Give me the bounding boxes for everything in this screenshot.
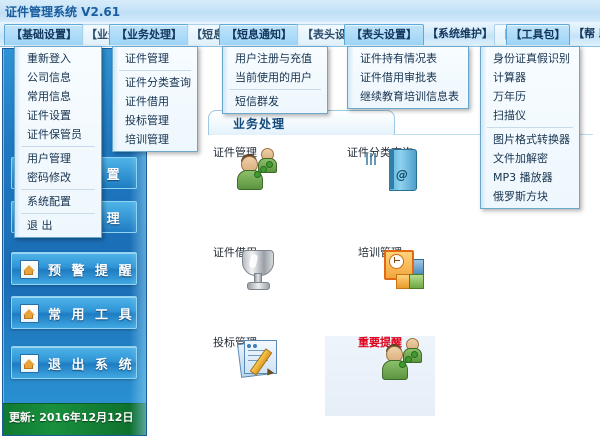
menu-separator: [229, 89, 321, 90]
menu-item-business[interactable]: 【业务处理】: [109, 24, 189, 45]
app-icon-certificate-borrow[interactable]: 证件借用: [180, 246, 290, 326]
menu-option-common-info[interactable]: 常用信息: [15, 87, 101, 106]
sidebar-button-exit-system[interactable]: 退 出 系 统: [11, 346, 137, 379]
house-icon: [20, 304, 39, 323]
app-title: 证件管理系统 V2.61: [5, 3, 120, 20]
sidebar-button-exit-system-label: 退 出 系 统: [48, 354, 135, 373]
menu-item-tools[interactable]: 【工具包】: [506, 24, 570, 45]
menu-option-file-encryption[interactable]: 文件加解密: [481, 149, 579, 168]
menu-option-user-register-recharge[interactable]: 用户注册与充值: [223, 49, 327, 68]
menu-item-help[interactable]: 【帮 助】: [566, 25, 600, 43]
menu-option-tetris[interactable]: 俄罗斯方块: [481, 187, 579, 206]
menu-option-certificate-borrow[interactable]: 证件借用: [113, 92, 197, 111]
menu-option-company-info[interactable]: 公司信息: [15, 68, 101, 87]
menu-option-cert-holding-table[interactable]: 证件持有情况表: [348, 49, 468, 68]
menu-option-continuing-education-table[interactable]: 继续教育培训信息表: [348, 87, 468, 106]
menu-option-cert-settings[interactable]: 证件设置: [15, 106, 101, 125]
menu-option-id-card-verification[interactable]: 身份证真假识别: [481, 49, 579, 68]
menu-separator: [487, 127, 573, 128]
app-icon-bid-management[interactable]: 投标管理: [180, 336, 290, 416]
panel-title: 业务处理: [233, 115, 285, 132]
menu-option-password-change[interactable]: 密码修改: [15, 168, 101, 187]
app-icon-certificate-management[interactable]: 证件管理: [180, 146, 290, 226]
house-icon: [20, 354, 39, 373]
menu-option-exit[interactable]: 退 出: [15, 216, 101, 235]
dropdown-tools: 身份证真假识别 计算器 万年历 扫描仪 图片格式转换器 文件加解密 MP3 播放…: [480, 46, 580, 209]
dropdown-sms: 用户注册与充值 当前使用的用户 短信群发: [222, 46, 328, 114]
menu-option-certificate-category-query[interactable]: 证件分类查询: [113, 73, 197, 92]
menu-separator: [21, 189, 95, 190]
title-bar: 证件管理系统 V2.61: [0, 0, 600, 23]
menu-option-user-management[interactable]: 用户管理: [15, 149, 101, 168]
menu-item-sms[interactable]: 【短息通知】: [219, 24, 299, 45]
update-status-bar: 更新: 2016年12月12日: [3, 403, 146, 435]
app-icon-important-reminder[interactable]: 重要提醒: [325, 336, 435, 416]
menu-option-image-format-converter[interactable]: 图片格式转换器: [481, 130, 579, 149]
menu-item-system-maint[interactable]: 【系统维护】: [422, 25, 498, 43]
menu-option-scanner[interactable]: 扫描仪: [481, 106, 579, 125]
sidebar-button-alert-reminder-label: 预 警 提 醒: [48, 260, 135, 279]
menu-option-calculator[interactable]: 计算器: [481, 68, 579, 87]
dropdown-business: 证件管理 证件分类查询 证件借用 投标管理 培训管理: [112, 46, 198, 152]
app-icon-training-management[interactable]: 培训管理: [325, 246, 435, 326]
menu-separator: [21, 213, 95, 214]
menu-item-basic-settings[interactable]: 【基础设置】: [4, 24, 84, 45]
menu-option-system-config[interactable]: 系统配置: [15, 192, 101, 211]
sidebar-button-common-tools-label: 常 用 工 具: [48, 304, 135, 323]
app-icon-label: 证件分类查询: [325, 146, 435, 159]
sidebar-button-alert-reminder[interactable]: 预 警 提 醒: [11, 252, 137, 285]
house-icon: [20, 260, 39, 279]
menu-separator: [21, 146, 95, 147]
menu-option-current-user[interactable]: 当前使用的用户: [223, 68, 327, 87]
menu-option-mp3-player[interactable]: MP3 播放器: [481, 168, 579, 187]
menu-separator: [119, 70, 191, 71]
app-icon-label: 培训管理: [325, 246, 435, 259]
dropdown-headers: 证件持有情况表 证件借用审批表 继续教育培训信息表: [347, 46, 469, 109]
dropdown-basic-settings: 重新登入 公司信息 常用信息 证件设置 证件保管员 用户管理 密码修改 系统配置…: [14, 46, 102, 238]
update-date-label: 更新: 2016年12月12日: [9, 409, 133, 425]
menu-option-certificate-management[interactable]: 证件管理: [113, 49, 197, 68]
menu-option-bid-management[interactable]: 投标管理: [113, 111, 197, 130]
menu-option-training-management[interactable]: 培训管理: [113, 130, 197, 149]
menu-item-headers[interactable]: 【表头设置】: [344, 24, 424, 45]
menu-option-cert-keeper[interactable]: 证件保管员: [15, 125, 101, 144]
app-icon-certificate-category-query[interactable]: @ 证件分类查询: [325, 146, 435, 226]
menu-option-sms-broadcast[interactable]: 短信群发: [223, 92, 327, 111]
menu-bar: 【基础设置】 【业务处理】 【业务处理】 【短息通知】 【短息通知】 【表头设置…: [0, 22, 600, 47]
menu-option-cert-borrow-approval-table[interactable]: 证件借用审批表: [348, 68, 468, 87]
menu-option-relogin[interactable]: 重新登入: [15, 49, 101, 68]
sidebar-button-common-tools[interactable]: 常 用 工 具: [11, 296, 137, 329]
menu-option-perpetual-calendar[interactable]: 万年历: [481, 87, 579, 106]
